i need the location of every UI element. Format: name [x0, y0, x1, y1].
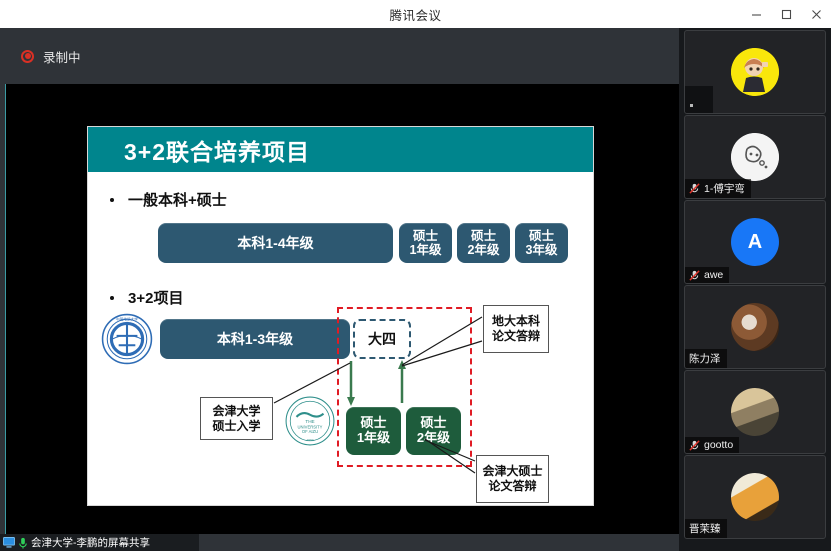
microphone-icon	[18, 537, 28, 549]
anime-girl-icon	[731, 48, 779, 96]
maximize-button[interactable]	[771, 0, 801, 28]
sketch-avatar	[731, 133, 779, 181]
close-icon	[811, 9, 822, 20]
callout-line2: 论文答辩	[492, 329, 540, 344]
box-line2: 2年级	[417, 431, 450, 446]
callout-aizu-thesis-defense: 会津大硕士 论文答辩	[476, 455, 549, 503]
minimize-button[interactable]	[741, 0, 771, 28]
bullet-3plus2-track: 3+2项目	[110, 287, 183, 308]
participant-name: gootto	[704, 439, 733, 451]
box-line2: 2年级	[468, 243, 500, 257]
box-line1: 硕士	[357, 416, 390, 431]
bullet-dot-icon	[110, 296, 114, 300]
box-joint-master-year2: 硕士 2年级	[406, 407, 461, 455]
share-status-text: 会津大学-李鹏的屏幕共享	[31, 535, 150, 550]
callout-line1: 会津大学	[212, 404, 260, 419]
box-master-year2: 硕士 2年级	[457, 223, 510, 263]
bullet-dot-icon	[110, 198, 114, 202]
letter-avatar: A	[731, 218, 779, 266]
box-master-year3: 硕士 3年级	[515, 223, 568, 263]
box-line2: 1年级	[410, 243, 442, 257]
tencent-meeting-window: 腾讯会议 录制中 3+2联合培养项目	[0, 0, 831, 551]
window-title: 腾讯会议	[389, 5, 441, 24]
participant-name-badge: 晋茉臻	[685, 519, 727, 538]
participant-name: 晋茉臻	[689, 521, 721, 536]
mic-muted-icon	[689, 270, 700, 281]
bullet-regular-track: 一般本科+硕士	[110, 189, 227, 210]
cat-avatar	[731, 473, 779, 521]
svg-text:中国地质大学: 中国地质大学	[116, 316, 138, 321]
participant-tile[interactable]: 晋茉臻	[684, 455, 826, 539]
participant-name: 1-傅宇弯	[704, 181, 745, 196]
callout-line1: 地大本科	[492, 314, 540, 329]
participant-tile[interactable]: 陈力泽	[684, 285, 826, 369]
maximize-icon	[781, 9, 792, 20]
participant-tile[interactable]: 1-傅宇弯	[684, 115, 826, 199]
participant-tile[interactable]: gootto	[684, 370, 826, 454]
participant-name-badge: 陈力泽	[685, 349, 727, 368]
box-line2: 3年级	[526, 243, 558, 257]
coffee-cup-avatar	[731, 303, 779, 351]
participant-name-badge: 1-傅宇弯	[685, 179, 751, 198]
pin-indicator	[685, 86, 713, 113]
bullet-label: 3+2项目	[128, 287, 183, 308]
box-joint-master-year1: 硕士 1年级	[346, 407, 401, 455]
close-button[interactable]	[801, 0, 831, 28]
slide-header: 3+2联合培养项目	[88, 127, 594, 172]
shared-content-area[interactable]: 3+2联合培养项目 一般本科+硕士 本科1-4年级 硕士 1年级	[5, 84, 679, 534]
callout-line2: 论文答辩	[488, 479, 536, 494]
participant-name: awe	[704, 269, 723, 281]
portrait-avatar	[731, 388, 779, 436]
title-bar: 腾讯会议	[0, 0, 831, 28]
participant-tile[interactable]	[684, 30, 826, 114]
mic-muted-icon	[689, 440, 700, 451]
record-dot-icon	[21, 50, 34, 63]
svg-text:OF AIZU: OF AIZU	[302, 429, 318, 434]
box-line1: 硕士	[417, 416, 450, 431]
box-line2: 1年级	[357, 431, 390, 446]
callout-aizu-master-admission: 会津大学 硕士入学	[200, 397, 273, 440]
university-of-aizu-logo: THE UNIVERSITY OF AIZU 1993	[284, 395, 336, 447]
slide-title: 3+2联合培养项目	[124, 133, 310, 167]
callout-cug-thesis-defense: 地大本科 论文答辩	[483, 305, 549, 353]
cug-logo: 中国地质大学	[101, 313, 153, 365]
screen-share-icon	[3, 537, 15, 548]
box-undergrad-1-3: 本科1-3年级	[160, 319, 350, 359]
box-senior-year: 大四	[353, 319, 411, 359]
anime-girl-avatar	[731, 48, 779, 96]
svg-text:1993: 1993	[307, 438, 314, 442]
participant-name-badge: awe	[685, 267, 729, 283]
participant-name-badge: gootto	[685, 437, 739, 453]
box-line1: 硕士	[468, 229, 500, 243]
participant-name: 陈力泽	[689, 351, 721, 366]
meeting-body: 录制中 3+2联合培养项目 一般本科+硕士 本科1-4年级	[0, 28, 831, 551]
bullet-label: 一般本科+硕士	[128, 189, 227, 210]
presentation-slide: 3+2联合培养项目 一般本科+硕士 本科1-4年级 硕士 1年级	[87, 126, 594, 506]
callout-line2: 硕士入学	[212, 419, 260, 434]
sketch-icon	[731, 133, 779, 181]
recording-label: 录制中	[43, 47, 81, 66]
box-line1: 硕士	[410, 229, 442, 243]
box-undergrad-1-4: 本科1-4年级	[158, 223, 393, 263]
shared-screen-stage: 录制中 3+2联合培养项目 一般本科+硕士 本科1-4年级	[0, 28, 679, 551]
participant-sidebar[interactable]: 1-傅宇弯 A awe 陈力泽	[679, 28, 831, 551]
recording-bar: 录制中	[5, 28, 679, 84]
window-controls	[741, 0, 831, 28]
participant-tile[interactable]: A awe	[684, 200, 826, 284]
box-master-year1: 硕士 1年级	[399, 223, 452, 263]
callout-line1: 会津大硕士	[482, 464, 542, 479]
minimize-icon	[751, 9, 762, 20]
mic-muted-icon	[689, 183, 700, 194]
svg-text:THE: THE	[305, 419, 314, 424]
screen-share-status-bar: 会津大学-李鹏的屏幕共享	[0, 534, 199, 551]
box-line1: 硕士	[526, 229, 558, 243]
